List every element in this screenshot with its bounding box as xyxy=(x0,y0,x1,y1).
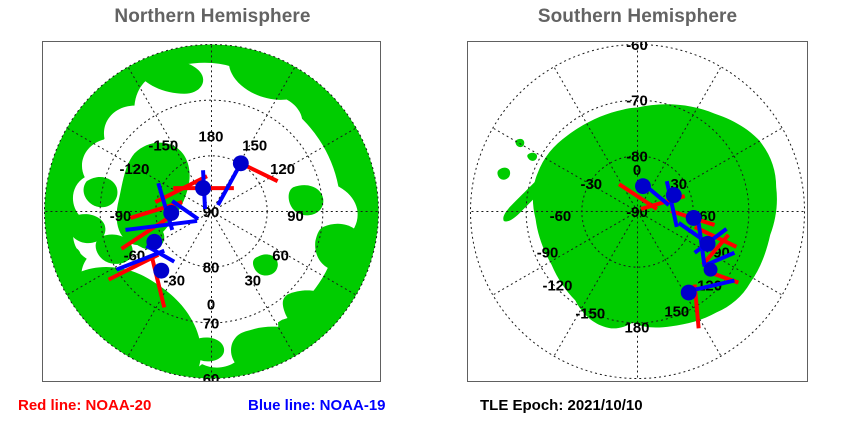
svg-text:-120: -120 xyxy=(543,279,573,295)
svg-text:-60: -60 xyxy=(550,209,572,225)
svg-text:-70: -70 xyxy=(626,94,648,110)
legend-noaa19: Blue line: NOAA-19 xyxy=(248,397,386,414)
svg-text:-150: -150 xyxy=(575,306,605,322)
southern-panel-title: Southern Hemisphere xyxy=(425,6,850,28)
svg-text:0: 0 xyxy=(207,297,215,313)
northern-plot-frame: 180 -150 -120 -90 -60 -30 0 30 60 90 120… xyxy=(42,41,381,382)
svg-text:-30: -30 xyxy=(580,177,602,193)
svg-text:30: 30 xyxy=(244,274,261,290)
svg-text:60: 60 xyxy=(203,372,220,381)
svg-text:-80: -80 xyxy=(626,149,648,165)
northern-hemisphere-panel: Northern Hemisphere xyxy=(0,0,425,425)
northern-panel-title: Northern Hemisphere xyxy=(0,6,425,28)
svg-text:90: 90 xyxy=(287,209,304,225)
svg-text:-150: -150 xyxy=(148,138,178,154)
svg-text:-90: -90 xyxy=(537,246,559,262)
southern-hemisphere-panel: Southern Hemisphere xyxy=(425,0,850,425)
tle-epoch-label: TLE Epoch: 2021/10/10 xyxy=(480,397,643,414)
svg-text:150: 150 xyxy=(664,304,689,320)
southern-plot-frame: 0 30 60 90 120 150 180 -150 -120 -90 -60… xyxy=(467,41,808,382)
svg-text:180: 180 xyxy=(199,129,224,145)
satellite-track-page: Northern Hemisphere xyxy=(0,0,850,425)
svg-text:80: 80 xyxy=(203,261,220,277)
southern-polar-map: 0 30 60 90 120 150 180 -150 -120 -90 -60… xyxy=(468,42,807,381)
svg-text:-60: -60 xyxy=(626,42,648,54)
svg-text:120: 120 xyxy=(270,162,295,178)
svg-text:150: 150 xyxy=(242,138,267,154)
svg-text:180: 180 xyxy=(625,320,650,336)
legend-noaa20: Red line: NOAA-20 xyxy=(18,397,151,414)
svg-text:-120: -120 xyxy=(120,162,150,178)
svg-text:0: 0 xyxy=(633,163,641,179)
svg-text:-90: -90 xyxy=(110,209,132,225)
northern-polar-map: 180 -150 -120 -90 -60 -30 0 30 60 90 120… xyxy=(43,42,380,381)
svg-text:60: 60 xyxy=(272,249,289,265)
svg-text:70: 70 xyxy=(203,316,220,332)
